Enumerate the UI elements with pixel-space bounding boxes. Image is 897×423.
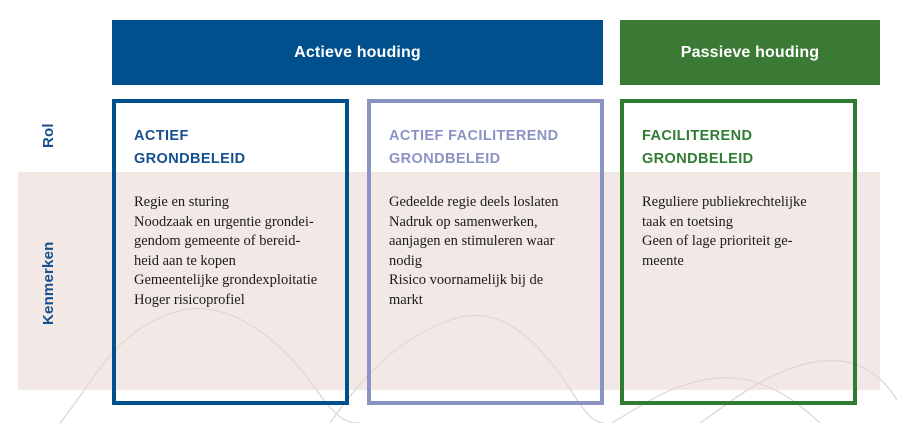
card-faciliterend-grondbeleid: FACILITEREND GRONDBELEID Reguliere publi… (620, 99, 857, 405)
card-actief-grondbeleid: ACTIEF GRONDBELEID Regie en sturing Nood… (112, 99, 349, 405)
card-actief-faciliterend-grondbeleid: ACTIEF FACILITEREND GRONDBELEID Gedeelde… (367, 99, 604, 405)
column-header-passieve-houding: Passieve houding (620, 20, 880, 85)
column-header-label: Actieve houding (294, 44, 421, 62)
grondbeleid-diagram: Rol Kenmerken Actieve houding Passieve h… (0, 0, 897, 423)
card-title: ACTIEF GRONDBELEID (134, 125, 327, 171)
card-body: Regie en sturing Noodzaak en urgentie gr… (134, 193, 327, 311)
column-header-actieve-houding: Actieve houding (112, 20, 603, 85)
card-body: Reguliere publiekrechtelijke taak en toe… (642, 193, 835, 271)
row-label-kenmerken: Kenmerken (38, 190, 60, 376)
card-body: Gedeelde regie deels loslaten Nadruk op … (389, 193, 582, 311)
column-header-label: Passieve houding (681, 44, 819, 62)
row-label-rol: Rol (38, 104, 60, 168)
card-title: ACTIEF FACILITEREND GRONDBELEID (389, 125, 582, 171)
card-title: FACILITEREND GRONDBELEID (642, 125, 835, 171)
